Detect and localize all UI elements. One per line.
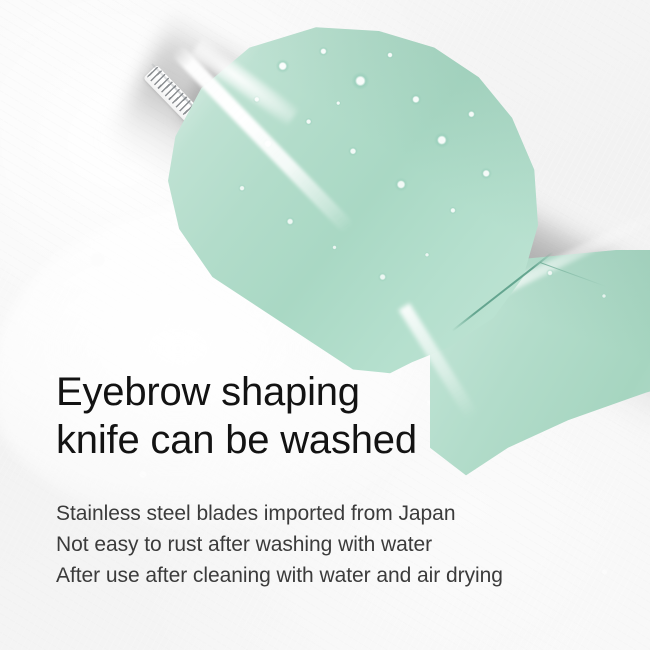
feature-list: Stainless steel blades imported from Jap… — [56, 498, 616, 591]
feature-item: Not easy to rust after washing with wate… — [56, 529, 616, 560]
feature-item: After use after cleaning with water and … — [56, 560, 616, 591]
headline-line-1: Eyebrow shaping — [56, 368, 616, 416]
headline: Eyebrow shaping knife can be washed — [56, 368, 616, 464]
feature-item: Stainless steel blades imported from Jap… — [56, 498, 616, 529]
headline-line-2: knife can be washed — [56, 416, 616, 464]
product-image-canvas: Eyebrow shaping knife can be washed Stai… — [0, 0, 650, 650]
